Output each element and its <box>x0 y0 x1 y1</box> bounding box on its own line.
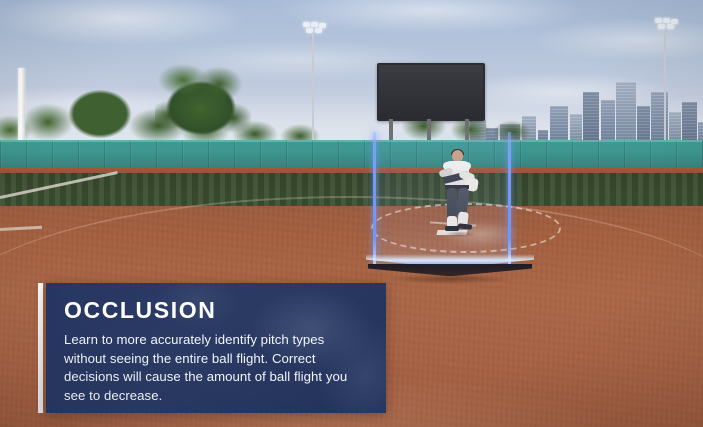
occlusion-zone <box>366 132 534 282</box>
occlusion-info-card: OCCLUSION Learn to more accurately ident… <box>46 283 386 413</box>
light-tower-lamp <box>306 28 313 33</box>
light-tower-lamp <box>663 18 670 23</box>
card-description: Learn to more accurately identify pitch … <box>64 331 368 406</box>
light-tower-lamps <box>303 22 323 35</box>
occlusion-veil <box>375 132 509 264</box>
page-title: OCCLUSION <box>64 299 368 322</box>
light-tower-lamp <box>658 24 665 29</box>
screenshot-root: OCCLUSION Learn to more accurately ident… <box>0 0 703 427</box>
occlusion-pillar-left <box>373 132 376 264</box>
stadium-light-tower <box>664 30 666 150</box>
light-tower-lamp <box>303 22 310 27</box>
light-tower-lamp <box>667 24 674 29</box>
light-tower-lamp <box>655 18 662 23</box>
stadium-light-tower <box>312 34 314 146</box>
occlusion-pillar-right <box>508 132 511 264</box>
occlusion-base-plate <box>366 248 534 280</box>
card-accent-bar <box>38 283 43 413</box>
light-tower-lamp <box>311 22 318 27</box>
light-tower-lamps <box>655 18 675 31</box>
scoreboard-screen <box>377 63 485 121</box>
outfield-wall <box>0 140 703 167</box>
light-tower-lamp <box>315 28 322 33</box>
occlusion-base-shadow <box>362 272 538 286</box>
outfield-wall-cap <box>0 140 703 142</box>
tree-large-center <box>155 58 251 148</box>
